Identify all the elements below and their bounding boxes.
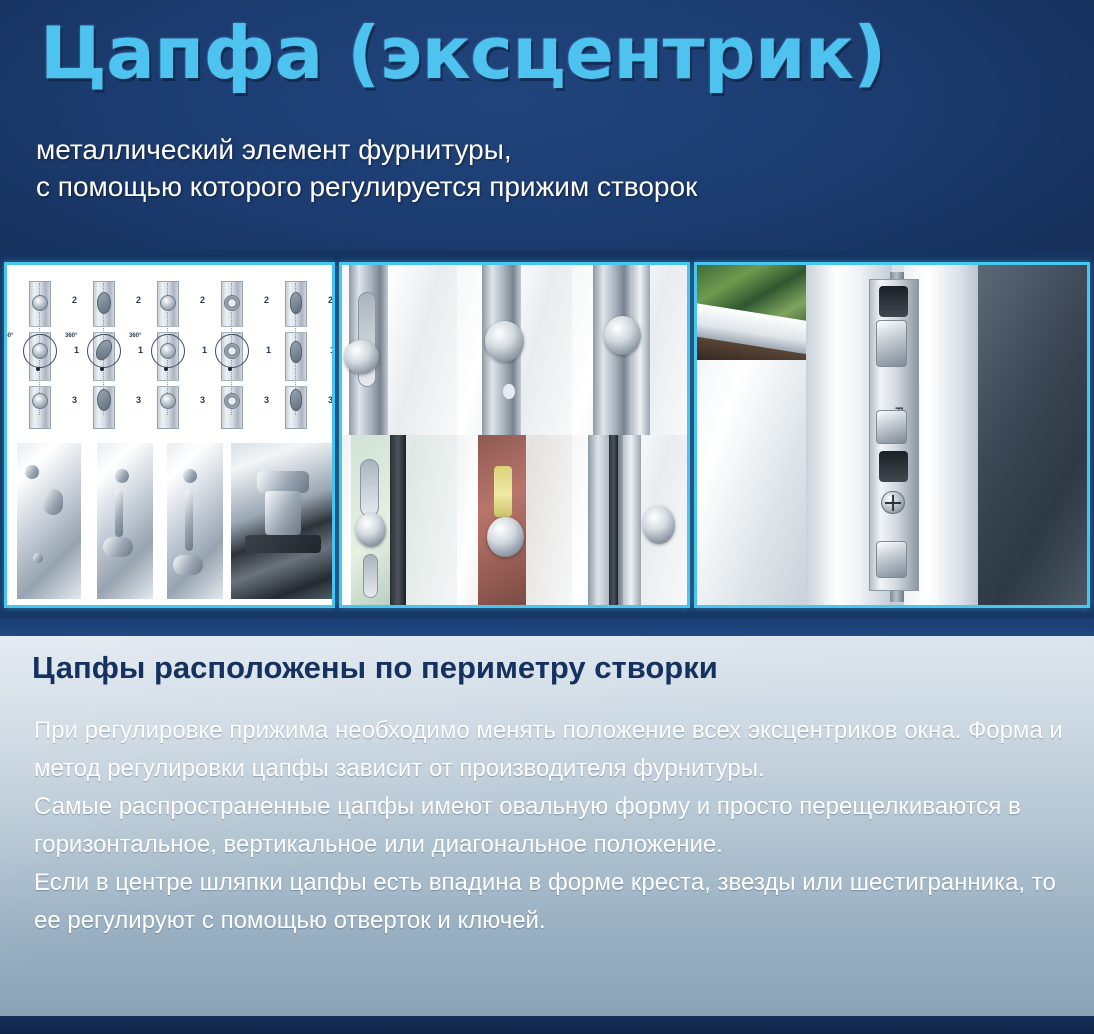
cam-label-3: 3 (328, 395, 333, 405)
photo-grid (342, 265, 687, 605)
cam-head-bot (290, 389, 302, 411)
photo-cam-star-socket (457, 435, 572, 605)
body-paragraph-1: При регулировке прижима необходимо менят… (34, 712, 1064, 788)
cam-head-mid (32, 295, 48, 311)
cam-column-2: 360° 2 1 3 (81, 275, 143, 435)
diagram-panel: 360° 2 1 3 360° 2 1 3 (4, 262, 335, 608)
photo-cam-round-knurled (572, 265, 687, 435)
cam-label-1: 1 (266, 345, 271, 355)
rotation-dot (36, 367, 40, 371)
cam-head-top (97, 292, 111, 314)
cam-label-2: 2 (328, 295, 333, 305)
cam-label-3: 3 (136, 395, 141, 405)
window-panel: F (694, 262, 1090, 608)
cam-label-1: 1 (138, 345, 143, 355)
cam-label-2: 2 (264, 295, 269, 305)
photo-cam-mushroom (572, 435, 687, 605)
media-strip: 360° 2 1 3 360° 2 1 3 (0, 250, 1094, 618)
cam-column-3: 360° 2 1 3 (145, 275, 207, 435)
body-section: Цапфы расположены по периметру створки П… (0, 636, 1094, 1016)
plate-bolt-bottom (876, 541, 906, 578)
page-subtitle: металлический элемент фурнитуры, с помощ… (36, 131, 1036, 205)
body-paragraph-3: Если в центре шляпки цапфы есть впадина … (34, 864, 1064, 940)
plate-hole-mid (879, 451, 907, 482)
rotation-ring (23, 334, 57, 368)
header-banner: Цапфа (эксцентрик) металлический элемент… (0, 0, 1094, 250)
cam-closeup-1 (17, 443, 81, 599)
cam-head-mid (224, 295, 240, 311)
plate-hole-top (879, 286, 907, 317)
plate-bolt-top (876, 320, 906, 367)
window-photo: F (697, 265, 1087, 605)
cam-label-1: 1 (330, 345, 335, 355)
cam-column-5: 2 1 3 (273, 275, 335, 435)
cam-label-3: 3 (264, 395, 269, 405)
window-interior-dark (978, 265, 1087, 605)
body-text: При регулировке прижима необходимо менят… (34, 712, 1064, 940)
rotation-dot (100, 367, 104, 371)
cam-closeup-3 (167, 443, 223, 599)
plate-screw-cross (881, 491, 904, 514)
photo-cam-hex-socket (457, 265, 572, 435)
cam-label-1: 1 (202, 345, 207, 355)
cam-column-1: 360° 2 1 3 (17, 275, 79, 435)
cam-label-2: 2 (136, 295, 141, 305)
plate-bolt-mid (876, 410, 906, 444)
rotation-label: 360° (65, 333, 77, 339)
subtitle-line-1: металлический элемент фурнитуры, (36, 131, 1036, 168)
cam-head-mid (290, 341, 302, 363)
photo-cam-oval-green (342, 435, 457, 605)
cam-head-bot (224, 393, 240, 409)
footer-strip (0, 1016, 1094, 1034)
cam-head-bot (32, 393, 48, 409)
cam-head-mid (160, 295, 176, 311)
rotation-ring (215, 334, 249, 368)
cam-label-1: 1 (74, 345, 79, 355)
section-divider (0, 618, 1094, 636)
diagram-inner: 360° 2 1 3 360° 2 1 3 (7, 265, 332, 605)
body-heading: Цапфы расположены по периметру створки (32, 650, 718, 686)
cam-label-3: 3 (72, 395, 77, 405)
rotation-ring (151, 334, 185, 368)
photo-cam-flat-slot (342, 265, 457, 435)
cam-cutaway (231, 443, 335, 599)
cam-head-bot (160, 393, 176, 409)
cam-head-top (290, 292, 302, 314)
cam-type-row: 360° 2 1 3 360° 2 1 3 (11, 271, 328, 439)
cam-column-4: 2 1 3 (209, 275, 271, 435)
strike-plate: F (869, 279, 920, 592)
rotation-dot (164, 367, 168, 371)
cam-label-2: 2 (72, 295, 77, 305)
cam-label-2: 2 (200, 295, 205, 305)
rotation-label: 360° (4, 333, 13, 339)
rotation-dot (228, 367, 232, 371)
photos-panel (339, 262, 690, 608)
body-paragraph-2: Самые распространенные цапфы имеют оваль… (34, 788, 1064, 864)
rotation-label: 360° (129, 333, 141, 339)
page-title: Цапфа (эксцентрик) (40, 11, 886, 95)
cam-closeup-row (11, 443, 328, 603)
cam-closeup-2 (97, 443, 153, 599)
cam-head-bot (97, 389, 111, 411)
subtitle-line-2: с помощью которого регулируется прижим с… (36, 168, 1036, 205)
cam-label-3: 3 (200, 395, 205, 405)
rotation-ring (87, 334, 121, 368)
